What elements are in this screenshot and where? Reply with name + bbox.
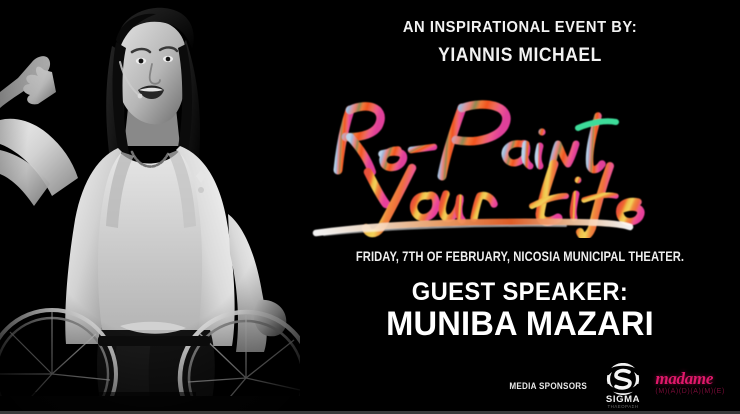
event-kicker-line-1: AN INSPIRATIONAL EVENT BY: <box>318 19 723 37</box>
event-poster: AN INSPIRATIONAL EVENT BY: YIANNIS MICHA… <box>0 0 740 414</box>
event-organizer-name: YIANNIS MICHAEL <box>318 45 723 67</box>
media-sponsors-label: MEDIA SPONSORS <box>509 381 587 391</box>
event-details: FRIDAY, 7TH OF FEBRUARY, NICOSIA MUNICIP… <box>344 248 696 264</box>
media-sponsors-block: MEDIA SPONSORS SIGMA ΤΗΛΕΟΡΑΣΗ madame (M… <box>505 362 740 410</box>
poster-content: AN INSPIRATIONAL EVENT BY: YIANNIS MICHA… <box>300 0 740 414</box>
poster-title-artwork <box>310 88 730 238</box>
sponsor-logo-madame[interactable]: madame (M)(A)(D)(A)(M)(E) <box>655 366 727 406</box>
sponsor-logo-sigma[interactable]: SIGMA ΤΗΛΕΟΡΑΣΗ <box>599 363 647 409</box>
madame-wordmark: madame <box>655 370 727 387</box>
guest-speaker-label: GUEST SPEAKER: <box>311 278 729 307</box>
svg-text:ΤΗΛΕΟΡΑΣΗ: ΤΗΛΕΟΡΑΣΗ <box>608 404 639 409</box>
sigma-s-monogram-icon <box>608 365 638 394</box>
madame-subtitle: (M)(A)(D)(A)(M)(E) <box>655 387 727 396</box>
speaker-photo <box>0 0 300 411</box>
guest-speaker-name: MUNIBA MAZARI <box>309 305 731 344</box>
